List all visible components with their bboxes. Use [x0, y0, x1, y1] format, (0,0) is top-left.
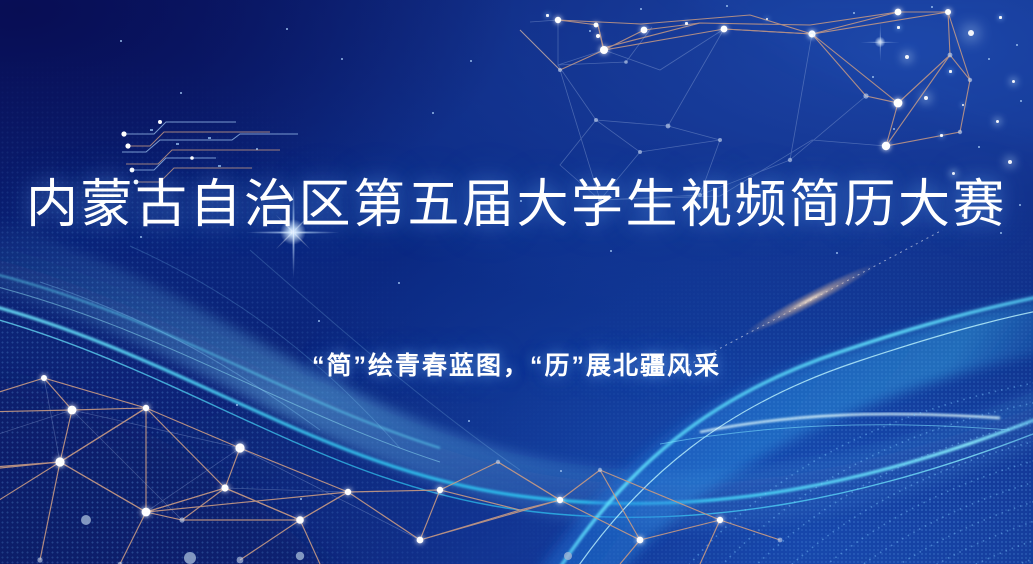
banner-subtitle: “简”绘青春蓝图，“历”展北疆风采	[0, 348, 1033, 384]
page-title: 内蒙古自治区第五届大学生视频简历大赛	[0, 172, 1033, 238]
banner-content: 内蒙古自治区第五届大学生视频简历大赛 “简”绘青春蓝图，“历”展北疆风采	[0, 0, 1033, 564]
event-banner: 内蒙古自治区第五届大学生视频简历大赛 “简”绘青春蓝图，“历”展北疆风采	[0, 0, 1033, 564]
